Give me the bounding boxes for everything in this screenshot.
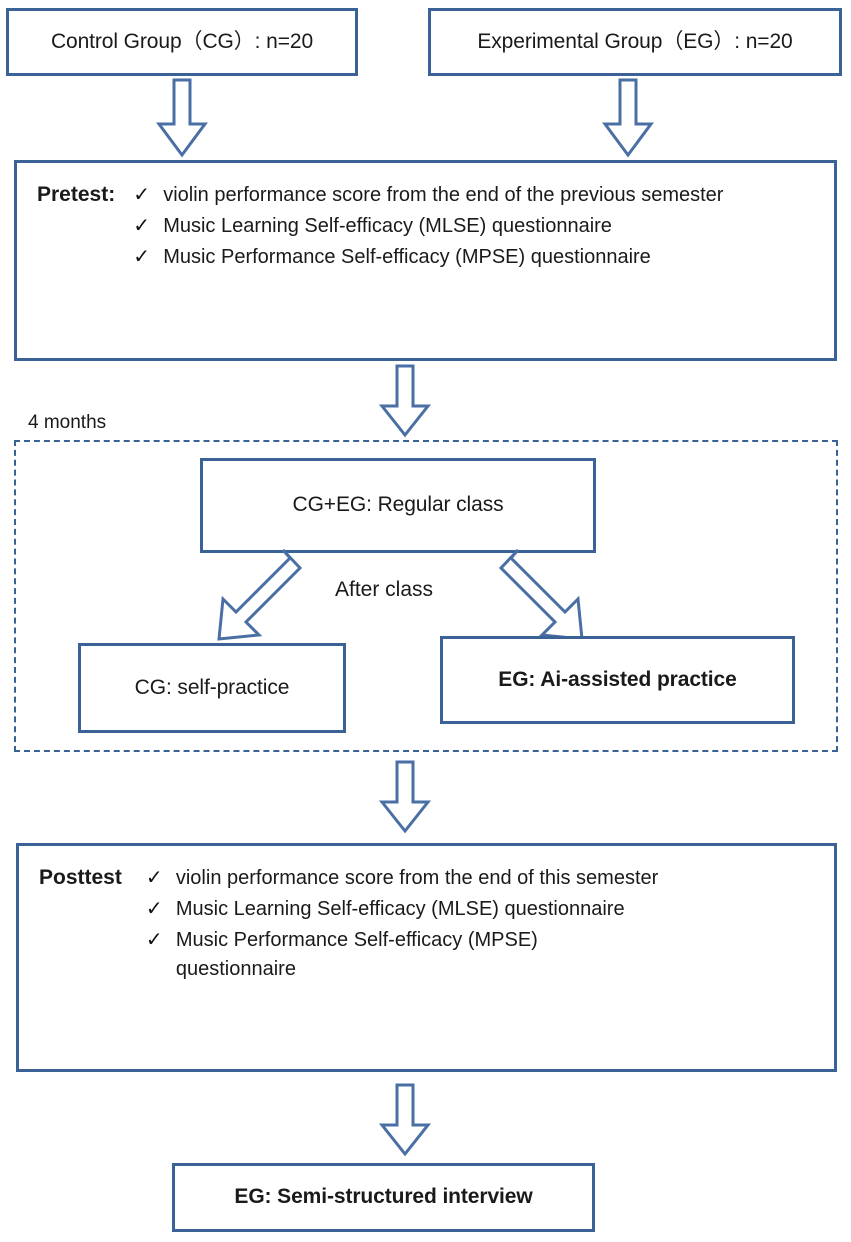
phase-duration-label: 4 months — [28, 412, 106, 434]
posttest-content: Posttest ✓ violin performance score from… — [39, 864, 820, 986]
posttest-title: Posttest — [39, 864, 122, 890]
check-icon: ✓ — [146, 864, 176, 893]
cg-self-practice-label: CG: self-practice — [135, 675, 290, 701]
control-group-label: Control Group（CG）: n=20 — [51, 29, 313, 55]
node-cg-self-practice[interactable]: CG: self-practice — [78, 643, 346, 733]
pretest-item-text: violin performance score from the end of… — [163, 181, 793, 210]
arrow-posttest-to-interview — [378, 1085, 432, 1157]
posttest-item-text: violin performance score from the end of… — [176, 864, 746, 893]
after-class-label: After class — [335, 578, 433, 602]
pretest-item-text: Music Learning Self-efficacy (MLSE) ques… — [163, 212, 793, 241]
node-eg-ai-assisted-practice[interactable]: EG: Ai-assisted practice — [440, 636, 795, 724]
list-item: ✓ Music Performance Self-efficacy (MPSE)… — [133, 243, 793, 272]
list-item: ✓ Music Learning Self-efficacy (MLSE) qu… — [133, 212, 793, 241]
posttest-item-list: ✓ violin performance score from the end … — [146, 864, 746, 986]
check-icon: ✓ — [146, 895, 176, 924]
check-icon: ✓ — [133, 243, 163, 272]
arrow-regular-to-cg-practice — [205, 548, 315, 648]
eg-ai-assisted-practice-label: EG: Ai-assisted practice — [498, 667, 736, 693]
arrow-regular-to-eg-practice — [492, 548, 602, 648]
panel-posttest[interactable]: Posttest ✓ violin performance score from… — [16, 843, 837, 1072]
node-regular-class[interactable]: CG+EG: Regular class — [200, 458, 596, 553]
pretest-item-list: ✓ violin performance score from the end … — [133, 181, 793, 274]
experimental-group-label: Experimental Group（EG）: n=20 — [477, 29, 792, 55]
regular-class-label: CG+EG: Regular class — [293, 492, 504, 518]
pretest-title: Pretest: — [37, 181, 115, 207]
check-icon: ✓ — [146, 926, 176, 955]
list-item: ✓ violin performance score from the end … — [133, 181, 793, 210]
posttest-item-text: Music Performance Self-efficacy (MPSE) q… — [176, 926, 646, 984]
arrow-eg-to-pretest — [601, 80, 655, 158]
interview-label: EG: Semi-structured interview — [234, 1184, 532, 1210]
list-item: ✓ Music Performance Self-efficacy (MPSE)… — [146, 926, 746, 984]
node-control-group[interactable]: Control Group（CG）: n=20 — [6, 8, 358, 76]
node-eg-semi-structured-interview[interactable]: EG: Semi-structured interview — [172, 1163, 595, 1232]
list-item: ✓ Music Learning Self-efficacy (MLSE) qu… — [146, 895, 746, 924]
arrow-pretest-to-phase — [378, 366, 432, 438]
flowchart-canvas: Control Group（CG）: n=20 Experimental Gro… — [0, 0, 851, 1242]
pretest-content: Pretest: ✓ violin performance score from… — [37, 181, 820, 274]
arrow-phase-to-posttest — [378, 762, 432, 834]
list-item: ✓ violin performance score from the end … — [146, 864, 746, 893]
node-experimental-group[interactable]: Experimental Group（EG）: n=20 — [428, 8, 842, 76]
check-icon: ✓ — [133, 181, 163, 210]
pretest-item-text: Music Performance Self-efficacy (MPSE) q… — [163, 243, 793, 272]
check-icon: ✓ — [133, 212, 163, 241]
arrow-cg-to-pretest — [155, 80, 209, 158]
panel-pretest[interactable]: Pretest: ✓ violin performance score from… — [14, 160, 837, 361]
posttest-item-text: Music Learning Self-efficacy (MLSE) ques… — [176, 895, 746, 924]
